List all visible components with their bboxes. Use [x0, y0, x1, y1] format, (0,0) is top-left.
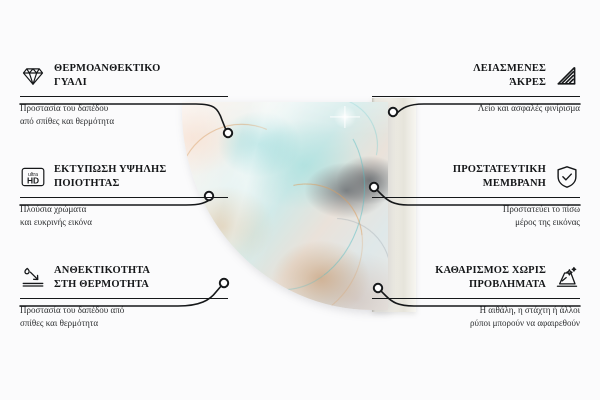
shield-check-icon — [554, 164, 580, 190]
feature-title: ΠΡΟΣΤΑΤΕΥΤΙΚΗ ΜΕΜΒΡΑΝΗ — [453, 163, 546, 191]
feature-description: Προστασία του δαπέδου από σπίθες και θερ… — [20, 304, 228, 329]
feature-title: ΛΕΙΑΣΜΕΝΕΣ ΆΚΡΕΣ — [473, 62, 546, 90]
infographic-stage: ΘΕΡΜΟΑΝΘΕΚΤΙΚΟ ΓΥΑΛΙ Προστασία του δαπέδ… — [0, 0, 600, 400]
feature-polished-edges: ΛΕΙΑΣΜΕΝΕΣ ΆΚΡΕΣ Λείο και ασφαλές φινίρι… — [372, 62, 580, 115]
feature-heat-durability: ΑΝΘΕΚΤΙΚΟΤΗΤΑ ΣΤΗ ΘΕΡΜΟΤΗΤΑ Προστασία το… — [20, 264, 228, 329]
feature-head: ΘΕΡΜΟΑΝΘΕΚΤΙΚΟ ΓΥΑΛΙ — [20, 62, 228, 90]
feature-divider — [20, 197, 228, 198]
feature-description-line: από σπίθες και θερμότητα — [20, 115, 228, 128]
feature-high-quality-print: ultra HD ΕΚΤΥΠΩΣΗ ΥΨΗΛΗΣ ΠΟΙΟΤΗΤΑΣ Πλούσ… — [20, 163, 228, 228]
feature-description-line: μέρος της εικόνας — [372, 216, 580, 229]
feature-head: ΠΡΟΣΤΑΤΕΥΤΙΚΗ ΜΕΜΒΡΑΝΗ — [372, 163, 580, 191]
feature-title: ΚΑΘΑΡΙΣΜΟΣ ΧΩΡΙΣ ΠΡΟΒΛΗΜΑΤΑ — [435, 264, 546, 292]
feature-divider — [372, 197, 580, 198]
feature-divider — [372, 298, 580, 299]
feature-title-line: ΠΟΙΟΤΗΤΑΣ — [54, 177, 166, 191]
feature-title-line: ΛΕΙΑΣΜΕΝΕΣ — [473, 62, 546, 76]
feature-heat-resistant-glass: ΘΕΡΜΟΑΝΘΕΚΤΙΚΟ ΓΥΑΛΙ Προστασία του δαπέδ… — [20, 62, 228, 127]
feature-title-line: ΠΡΟΣΤΑΤΕΥΤΙΚΗ — [453, 163, 546, 177]
feature-description-line: Η αιθάλη, η στάχτη ή άλλοι — [372, 304, 580, 317]
feature-head: ΑΝΘΕΚΤΙΚΟΤΗΤΑ ΣΤΗ ΘΕΡΜΟΤΗΤΑ — [20, 264, 228, 292]
sparkle-cloth-icon — [554, 265, 580, 291]
feature-title-line: ΆΚΡΕΣ — [473, 76, 546, 90]
feature-protective-membrane: ΠΡΟΣΤΑΤΕΥΤΙΚΗ ΜΕΜΒΡΑΝΗ Προστατεύει το πί… — [372, 163, 580, 228]
feature-title-line: ΜΕΜΒΡΑΝΗ — [453, 177, 546, 191]
feature-description-line: Πλούσια χρώματα — [20, 203, 228, 216]
feature-title: ΘΕΡΜΟΑΝΘΕΚΤΙΚΟ ΓΥΑΛΙ — [54, 62, 160, 90]
feature-title-line: ΓΥΑΛΙ — [54, 76, 160, 90]
feature-title-line: ΕΚΤΥΠΩΣΗ ΥΨΗΛΗΣ — [54, 163, 166, 177]
feature-description-line: Προστασία του δαπέδου από — [20, 304, 228, 317]
hatched-triangle-icon — [554, 63, 580, 89]
feature-description: Προστατεύει το πίσω μέρος της εικόνας — [372, 203, 580, 228]
feature-description-line: Προστασία του δαπέδου — [20, 102, 228, 115]
feature-divider — [20, 298, 228, 299]
feature-description-line: σπίθες και θερμότητα — [20, 317, 228, 330]
feature-title-line: ΑΝΘΕΚΤΙΚΟΤΗΤΑ — [54, 264, 150, 278]
feature-description: Η αιθάλη, η στάχτη ή άλλοι ρύποι μπορούν… — [372, 304, 580, 329]
feature-description-line: ρύποι μπορούν να αφαιρεθούν — [372, 317, 580, 330]
feature-easy-cleaning: ΚΑΘΑΡΙΣΜΟΣ ΧΩΡΙΣ ΠΡΟΒΛΗΜΑΤΑ Η αιθάλη, η … — [372, 264, 580, 329]
feature-title: ΑΝΘΕΚΤΙΚΟΤΗΤΑ ΣΤΗ ΘΕΡΜΟΤΗΤΑ — [54, 264, 150, 292]
feature-description: Πλούσια χρώματα και ευκρινής εικόνα — [20, 203, 228, 228]
feature-head: ultra HD ΕΚΤΥΠΩΣΗ ΥΨΗΛΗΣ ΠΟΙΟΤΗΤΑΣ — [20, 163, 228, 191]
glint-icon — [332, 104, 358, 130]
feature-title: ΕΚΤΥΠΩΣΗ ΥΨΗΛΗΣ ΠΟΙΟΤΗΤΑΣ — [54, 163, 166, 191]
ultra-hd-icon-bottom-label: HD — [27, 175, 39, 185]
feature-divider — [20, 96, 228, 97]
feature-title-line: ΚΑΘΑΡΙΣΜΟΣ ΧΩΡΙΣ — [435, 264, 546, 278]
feature-description: Προστασία του δαπέδου από σπίθες και θερ… — [20, 102, 228, 127]
feature-description-line: Λείο και ασφαλές φινίρισμα — [372, 102, 580, 115]
feature-divider — [372, 96, 580, 97]
diamond-icon — [20, 63, 46, 89]
flame-deflect-icon — [20, 265, 46, 291]
feature-description-line: και ευκρινής εικόνα — [20, 216, 228, 229]
feature-description-line: Προστατεύει το πίσω — [372, 203, 580, 216]
ultra-hd-icon: ultra HD — [20, 164, 46, 190]
feature-title-line: ΘΕΡΜΟΑΝΘΕΚΤΙΚΟ — [54, 62, 160, 76]
feature-title-line: ΣΤΗ ΘΕΡΜΟΤΗΤΑ — [54, 278, 150, 292]
feature-description: Λείο και ασφαλές φινίρισμα — [372, 102, 580, 115]
feature-head: ΛΕΙΑΣΜΕΝΕΣ ΆΚΡΕΣ — [372, 62, 580, 90]
feature-head: ΚΑΘΑΡΙΣΜΟΣ ΧΩΡΙΣ ΠΡΟΒΛΗΜΑΤΑ — [372, 264, 580, 292]
feature-title-line: ΠΡΟΒΛΗΜΑΤΑ — [435, 278, 546, 292]
